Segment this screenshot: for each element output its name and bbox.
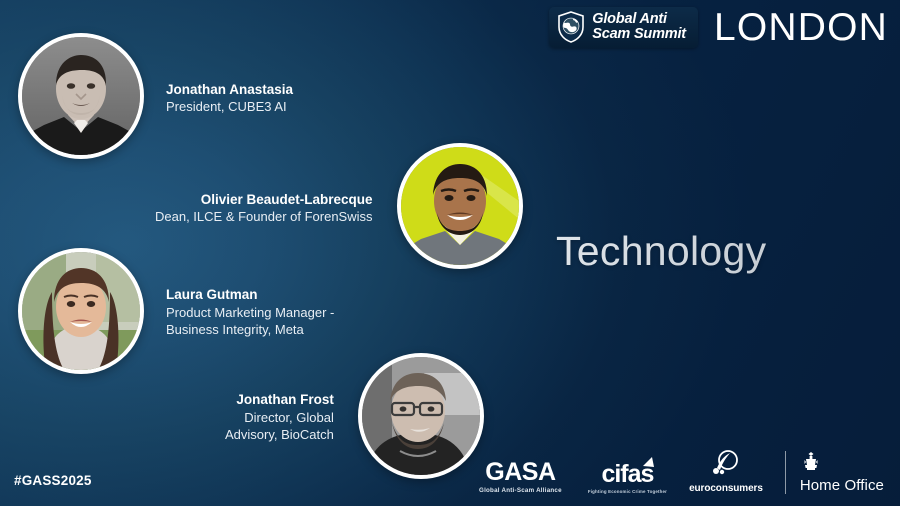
portrait-olivier-beaudet-labrecque bbox=[401, 147, 519, 265]
shield-globe-icon bbox=[557, 11, 585, 43]
speaker-info: Jonathan Frost Director, Global Advisory… bbox=[225, 389, 334, 443]
event-hashtag: #GASS2025 bbox=[14, 473, 92, 488]
gass-badge-text: Global Anti Scam Summit bbox=[592, 12, 686, 43]
speaker-name: Laura Gutman bbox=[166, 286, 334, 304]
avatar bbox=[18, 33, 144, 159]
portrait-jonathan-frost bbox=[362, 357, 480, 475]
avatar bbox=[18, 248, 144, 374]
presentation-slide: Global Anti Scam Summit LONDON Technolog… bbox=[0, 0, 900, 506]
gasa-tagline: Global Anti-Scam Alliance bbox=[479, 487, 562, 494]
cifas-logo: cifas Fighting Economic Crime Together bbox=[588, 462, 667, 494]
gass-badge-line1: Global Anti bbox=[592, 11, 667, 27]
gass-logo-badge: Global Anti Scam Summit bbox=[549, 7, 698, 48]
city-label: LONDON bbox=[714, 8, 888, 47]
euroconsumers-mark-icon bbox=[711, 449, 741, 480]
speaker-info: Laura Gutman Product Marketing Manager -… bbox=[166, 284, 334, 338]
avatar bbox=[397, 143, 523, 269]
gasa-logo: GASA Global Anti-Scam Alliance bbox=[479, 460, 562, 494]
speaker-role-line2: Business Integrity, Meta bbox=[166, 321, 334, 338]
speaker-card-jonathan-anastasia: Jonathan Anastasia President, CUBE3 AI bbox=[18, 33, 293, 159]
euroconsumers-wordmark: euroconsumers bbox=[689, 483, 763, 494]
speaker-role: President, CUBE3 AI bbox=[166, 98, 293, 115]
gass-badge-line2: Scam Summit bbox=[592, 26, 686, 42]
cifas-sail-icon bbox=[641, 451, 655, 476]
sponsor-logo-bar: GASA Global Anti-Scam Alliance cifas Fig… bbox=[479, 449, 884, 494]
portrait-jonathan-anastasia bbox=[22, 37, 140, 155]
speaker-name: Jonathan Frost bbox=[225, 391, 334, 409]
speaker-role-line1: Product Marketing Manager - bbox=[166, 304, 334, 321]
speaker-role: Dean, ILCE & Founder of ForenSwiss bbox=[155, 208, 373, 225]
avatar bbox=[358, 353, 484, 479]
speaker-name: Jonathan Anastasia bbox=[166, 81, 293, 99]
speaker-name: Olivier Beaudet-Labrecque bbox=[155, 191, 373, 209]
portrait-laura-gutman bbox=[22, 252, 140, 370]
speaker-role-line1: Director, Global bbox=[225, 409, 334, 426]
cifas-tagline: Fighting Economic Crime Together bbox=[588, 489, 667, 494]
home-office-wordmark: Home Office bbox=[800, 477, 884, 494]
gasa-wordmark-text: GASA bbox=[485, 460, 555, 485]
slide-header: Global Anti Scam Summit LONDON bbox=[549, 7, 888, 48]
speaker-role-line2: Advisory, BioCatch bbox=[225, 426, 334, 443]
home-office-crest-icon bbox=[800, 451, 822, 476]
section-title: Technology bbox=[556, 228, 766, 275]
gasa-wordmark: GASA bbox=[485, 460, 555, 485]
speaker-info: Olivier Beaudet-Labrecque Dean, ILCE & F… bbox=[155, 187, 373, 226]
speaker-info: Jonathan Anastasia President, CUBE3 AI bbox=[166, 77, 293, 116]
cifas-wordmark: cifas bbox=[601, 462, 653, 487]
euroconsumers-logo: euroconsumers bbox=[689, 449, 763, 494]
home-office-logo: Home Office bbox=[785, 451, 884, 494]
speaker-card-jonathan-frost: Jonathan Frost Director, Global Advisory… bbox=[225, 353, 484, 479]
